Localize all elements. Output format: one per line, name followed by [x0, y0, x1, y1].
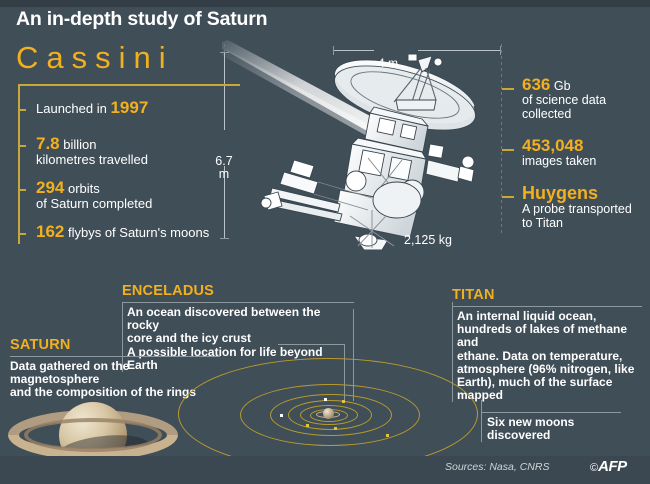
stat-tick: [18, 145, 26, 147]
stat-prefix: Launched in: [36, 101, 110, 116]
callout-titan-title: TITAN: [452, 287, 642, 303]
callout-line-3: ethane. Data on temperature,: [457, 350, 642, 363]
callout-titan: TITAN An internal liquid ocean, hundreds…: [452, 287, 642, 402]
footer-strip: [0, 456, 650, 484]
stat-tick: [18, 189, 26, 191]
stat-images: 453,048 images taken: [502, 139, 648, 168]
orbit-saturn-globe: [323, 408, 334, 419]
stat-launched: Launched in 1997: [28, 101, 148, 117]
moon-marker: [280, 414, 283, 417]
stat-line-1: Launched in 1997: [36, 101, 148, 117]
stat-suffix: flybys of Saturn's moons: [64, 225, 209, 240]
width-dimension-value: 4 m: [378, 56, 398, 70]
right-instrument-cluster: [426, 144, 474, 182]
left-rule-vertical: [18, 84, 20, 244]
stat-line-1: 453,048: [522, 139, 648, 154]
stat-huygens: Huygens A probe transported to Titan: [502, 186, 648, 230]
right-stats-column: 636 Gb of science data collected 453,048…: [502, 78, 648, 243]
callout-saturn-title: SATURN: [10, 337, 220, 353]
stat-line-1: 162 flybys of Saturn's moons: [36, 225, 209, 241]
mass-label: 2,125 kg: [404, 233, 452, 247]
height-dimension-label: 6.7 m: [207, 155, 241, 181]
infographic-root: An in-depth study of Saturn Cassini: [0, 0, 650, 484]
stat-line-3: collected: [522, 107, 648, 121]
moon-marker: [334, 427, 337, 430]
afp-logo: ©AFP: [590, 458, 627, 475]
stat-line-2: kilometres travelled: [36, 153, 148, 168]
stat-value: Huygens: [522, 183, 598, 203]
brand-title: Cassini: [16, 40, 174, 76]
copyright-icon: ©: [590, 462, 598, 474]
stat-lines: 453,048 images taken: [522, 139, 648, 168]
stat-tick: [18, 109, 26, 111]
width-dimension-cap-left: [333, 46, 334, 55]
top-strip: [0, 0, 650, 7]
stat-suffix: orbits: [64, 181, 99, 196]
stat-dash: [502, 196, 514, 198]
moon-marker: [342, 400, 345, 403]
callout-line-2: discovered: [487, 429, 621, 442]
height-dimension-cap-top: [220, 52, 229, 53]
stat-dash: [502, 88, 514, 90]
page-title: An in-depth study of Saturn: [16, 8, 267, 31]
stat-line-2: of science data: [522, 93, 648, 107]
afp-wordmark: AFP: [598, 458, 627, 475]
stat-line-1: 7.8 billion: [36, 137, 148, 153]
stat-orbits: 294 orbits of Saturn completed: [28, 181, 152, 211]
left-rule-top: [18, 84, 240, 86]
cassini-spacecraft-illustration: [222, 40, 512, 250]
height-dimension-cap-bottom: [220, 238, 229, 239]
stat-tick: [18, 233, 26, 235]
stat-value: 294: [36, 178, 64, 197]
stat-suffix: Gb: [550, 79, 570, 93]
moon-marker: [306, 424, 309, 427]
stat-line-3: to Titan: [522, 216, 648, 230]
stat-dash: [502, 149, 514, 151]
stat-flybys: 162 flybys of Saturn's moons: [28, 225, 209, 241]
stat-line-1: 294 orbits: [36, 181, 152, 197]
height-dimension-unit: m: [207, 168, 241, 181]
stat-distance: 7.8 billion kilometres travelled: [28, 137, 148, 167]
stat-suffix: billion: [60, 137, 97, 152]
stat-line-2: A probe transported: [522, 202, 648, 216]
stat-lines: 636 Gb of science data collected: [522, 78, 648, 121]
stat-science-data: 636 Gb of science data collected: [502, 78, 648, 121]
callout-line-1: An ocean discovered between the rocky: [127, 306, 354, 332]
saturn-ring-inner: [24, 418, 162, 452]
stat-line-2: of Saturn completed: [36, 197, 152, 212]
moon-marker: [324, 398, 327, 401]
sources-label: Sources: Nasa, CNRS: [445, 461, 549, 473]
callout-line-6: mapped: [457, 389, 642, 402]
stat-value: 7.8: [36, 134, 60, 153]
width-dimension-cap-right: [500, 46, 501, 55]
stat-lines: Huygens A probe transported to Titan: [522, 186, 648, 230]
stat-line-1: Huygens: [522, 186, 648, 202]
stat-value: 636: [522, 75, 550, 94]
orbit-center-saturn: [316, 406, 340, 422]
width-dimension-gap: [374, 50, 418, 51]
callout-titan-body: An internal liquid ocean, hundreds of la…: [452, 306, 642, 402]
moon-marker: [386, 434, 389, 437]
callout-enceladus-title: ENCELADUS: [122, 283, 354, 299]
stat-value: 453,048: [522, 136, 583, 155]
stat-value: 1997: [110, 98, 148, 117]
callout-six-moons: Six new moons discovered: [481, 412, 621, 442]
callout-six-moons-body: Six new moons discovered: [481, 412, 621, 442]
callout-line-2: hundreds of lakes of methane and: [457, 323, 642, 349]
stat-value: 162: [36, 222, 64, 241]
stat-line-2: images taken: [522, 154, 648, 168]
stat-line-1: 636 Gb: [522, 78, 648, 93]
